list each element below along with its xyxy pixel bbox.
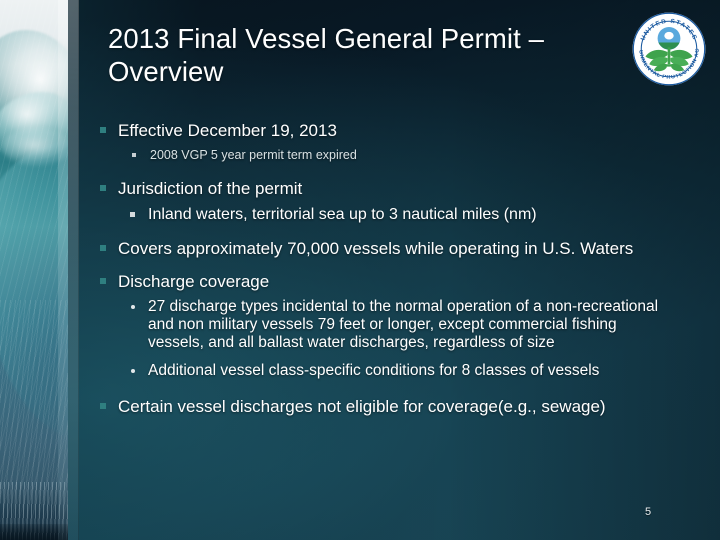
bullet-2008-vgp-expired: 2008 VGP 5 year permit term expired	[92, 147, 672, 164]
spacer	[92, 380, 672, 396]
square-bullet-icon	[100, 185, 106, 191]
square-bullet-icon	[100, 278, 106, 284]
bullet-jurisdiction: Jurisdiction of the permit	[92, 178, 672, 199]
round-bullet-icon	[131, 369, 135, 373]
spacer	[92, 259, 672, 271]
epa-seal-icon: UNITED STATES ENVIRONMENTAL PROTECTION A…	[631, 11, 707, 87]
photo-overlay-band	[58, 0, 79, 540]
bullet-text: Inland waters, territorial sea up to 3 n…	[148, 206, 537, 223]
bullet-inland-waters: Inland waters, territorial sea up to 3 n…	[92, 205, 672, 225]
bullet-27-discharge-types: 27 discharge types incidental to the nor…	[92, 298, 672, 352]
slide-title: 2013 Final Vessel General Permit – Overv…	[108, 22, 618, 88]
bullet-text: Additional vessel class-specific conditi…	[148, 362, 599, 379]
square-bullet-icon	[100, 403, 106, 409]
bullet-text: Covers approximately 70,000 vessels whil…	[118, 239, 633, 258]
bullet-text: 27 discharge types incidental to the nor…	[148, 298, 658, 351]
square-bullet-icon	[100, 245, 106, 251]
spacer	[92, 164, 672, 178]
square-bullet-icon	[100, 127, 106, 133]
bullet-discharge-coverage: Discharge coverage	[92, 271, 672, 292]
spacer	[92, 352, 672, 362]
bullet-text: 2008 VGP 5 year permit term expired	[150, 148, 357, 162]
bullet-covers-vessels: Covers approximately 70,000 vessels whil…	[92, 238, 672, 259]
presentation-slide: 2013 Final Vessel General Permit – Overv…	[0, 0, 720, 540]
bullet-effective-date: Effective December 19, 2013	[92, 120, 672, 141]
bullet-text: Effective December 19, 2013	[118, 121, 337, 140]
bullet-vessel-class-conditions: Additional vessel class-specific conditi…	[92, 362, 672, 380]
round-bullet-icon	[131, 305, 135, 309]
slide-body: Effective December 19, 2013 2008 VGP 5 y…	[92, 120, 672, 417]
bullet-text: Certain vessel discharges not eligible f…	[118, 397, 606, 416]
bullet-not-eligible-discharges: Certain vessel discharges not eligible f…	[92, 396, 672, 417]
slide-number: 5	[628, 506, 668, 518]
bullet-text: Jurisdiction of the permit	[118, 179, 302, 198]
square-bullet-icon	[132, 153, 136, 157]
square-bullet-icon	[130, 212, 135, 217]
spacer	[92, 225, 672, 238]
bullet-text: Discharge coverage	[118, 272, 269, 291]
